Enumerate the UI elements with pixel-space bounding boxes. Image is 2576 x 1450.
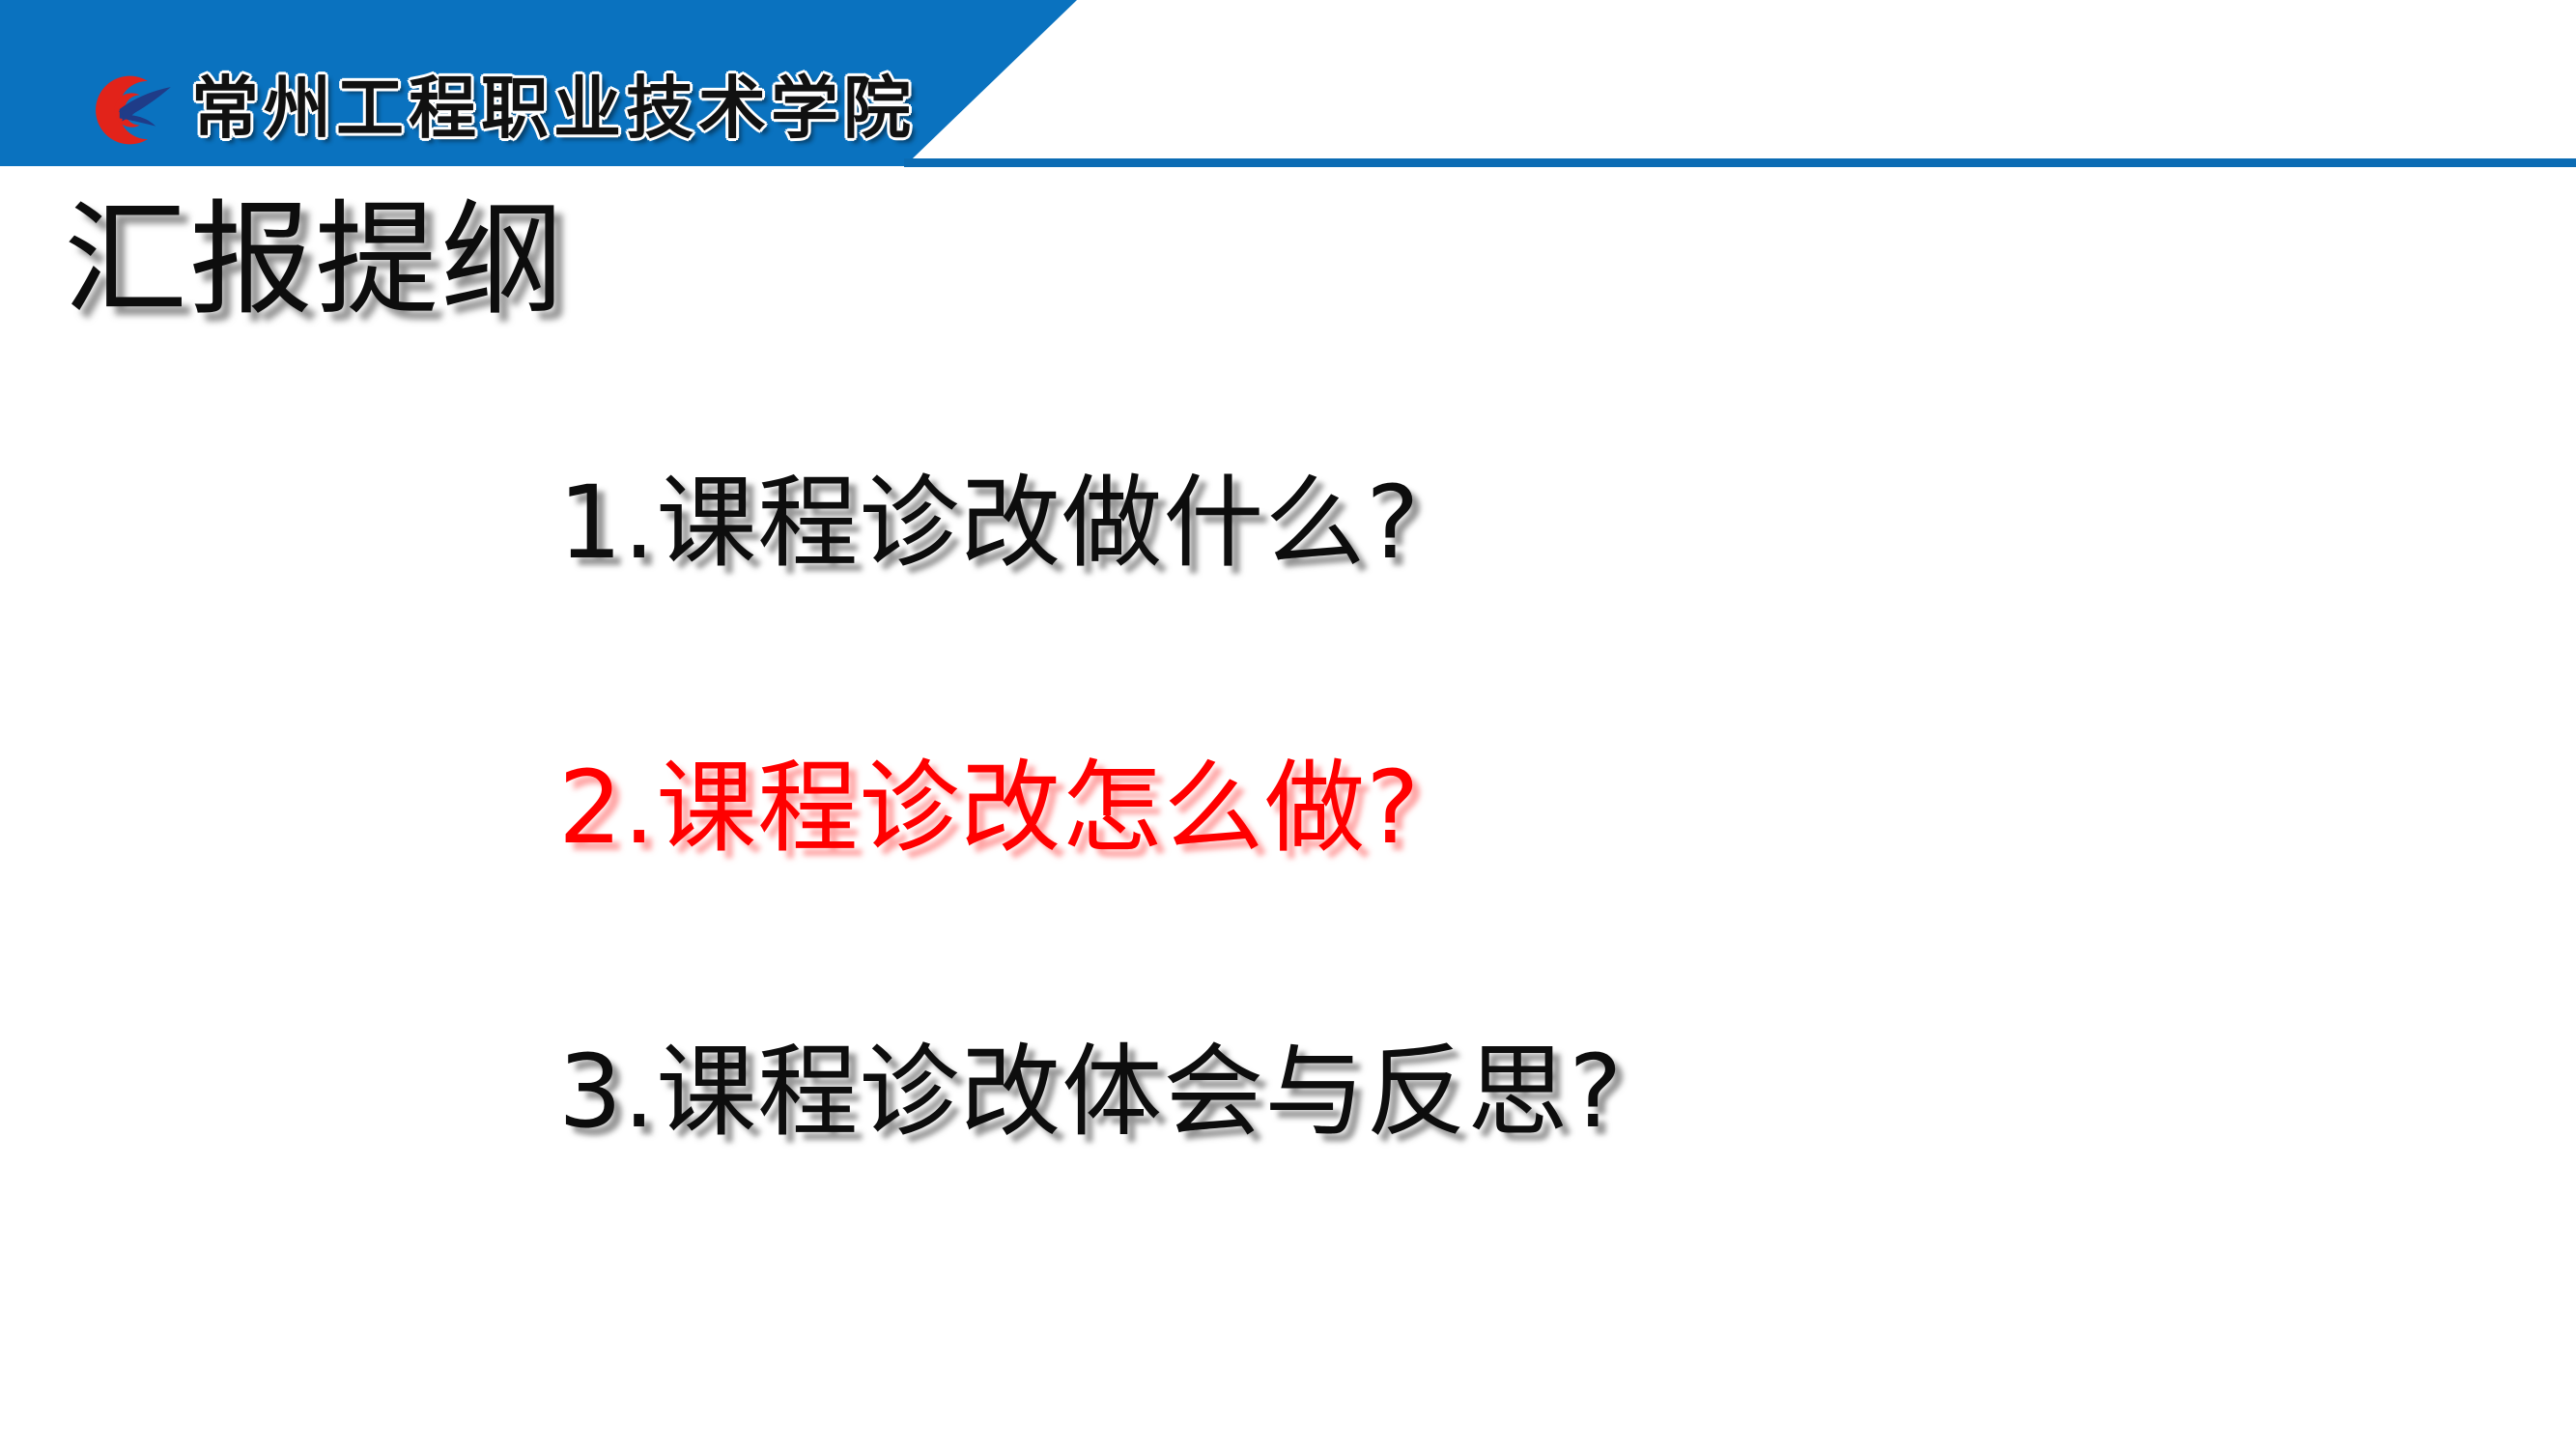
institution-logo: 常州工程职业技术学院	[75, 60, 916, 160]
header-divider-rule	[904, 158, 2576, 167]
outline-item-1[interactable]: 1.课程诊改做什么?	[558, 464, 2393, 583]
outline-list: 1.课程诊改做什么? 2.课程诊改怎么做? 3.课程诊改体会与反思?	[558, 464, 2393, 1151]
page-title: 汇报提纲	[64, 189, 566, 331]
institution-name: 常州工程职业技术学院	[191, 74, 916, 146]
outline-item-3[interactable]: 3.课程诊改体会与反思?	[558, 1033, 2393, 1151]
presentation-slide: 常州工程职业技术学院 汇报提纲 1.课程诊改做什么? 2.课程诊改怎么做? 3.…	[0, 0, 2576, 1450]
university-emblem-icon	[75, 60, 176, 160]
outline-item-2[interactable]: 2.课程诊改怎么做?	[558, 749, 2393, 867]
